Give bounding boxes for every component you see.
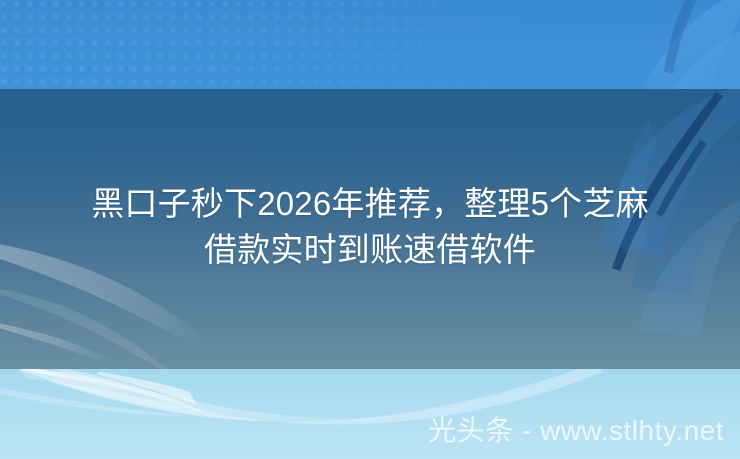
site-watermark: 光头条 - www.stlhty.net (0, 415, 740, 447)
dot-texture-overlay (0, 0, 560, 89)
promo-banner: 黑口子秒下2026年推荐，整理5个芝麻 借款实时到账速借软件 光头条 - www… (0, 0, 740, 459)
page-title: 黑口子秒下2026年推荐，整理5个芝麻 借款实时到账速借软件 (0, 181, 740, 273)
